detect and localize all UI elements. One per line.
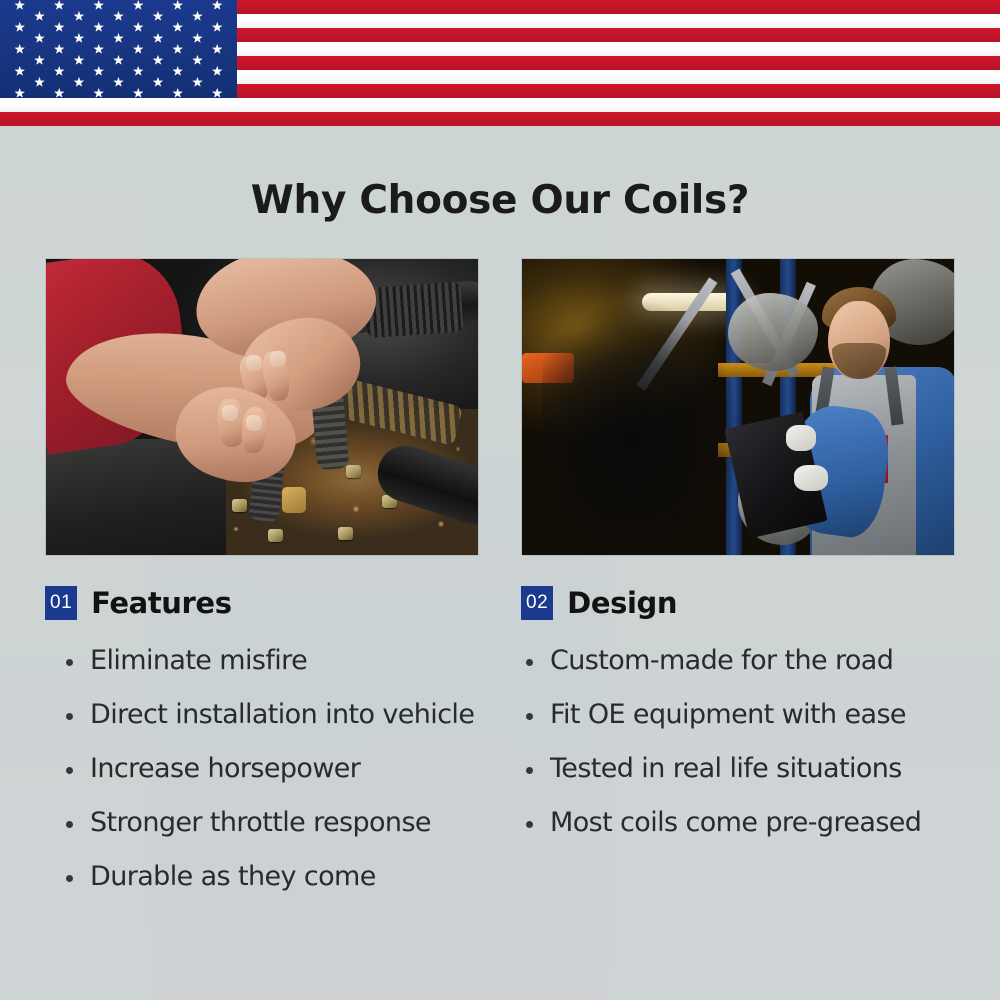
flag-star-icon: ★ [53, 0, 66, 12]
flag-star-icon: ★ [171, 0, 184, 12]
bullet-dot-icon [66, 821, 73, 828]
column-heading-features: 01 Features [45, 586, 232, 620]
list-item: Tested in real life situations [522, 748, 921, 802]
flag-star-icon: ★ [33, 53, 46, 66]
flag-star-icon: ★ [132, 21, 145, 34]
flag-star-icon: ★ [92, 0, 105, 12]
flag-star-icon: ★ [112, 75, 125, 88]
product-infographic-page: ★★★★★★★★★★★★★★★★★★★★★★★★★★★★★★★★★★★★★★★★… [0, 0, 1000, 1000]
flag-canton-stars: ★★★★★★★★★★★★★★★★★★★★★★★★★★★★★★★★★★★★★★★★… [0, 0, 237, 98]
list-item-label: Tested in real life situations [550, 753, 902, 784]
flag-star-icon: ★ [191, 10, 204, 23]
engine-ribbed-hose [364, 282, 463, 339]
flag-star-icon: ★ [92, 43, 105, 56]
worker-glove [786, 425, 816, 451]
flag-star-icon: ★ [53, 43, 66, 56]
flag-star-icon: ★ [152, 32, 165, 45]
flag-star-icon: ★ [13, 64, 26, 77]
bullet-dot-icon [66, 713, 73, 720]
flag-star-icon: ★ [152, 10, 165, 23]
engine-bolt [346, 465, 361, 478]
flag-star-icon: ★ [132, 43, 145, 56]
flag-star-icon: ★ [211, 0, 224, 12]
photo-warehouse-worker [521, 258, 955, 556]
flag-star-icon: ★ [132, 0, 145, 12]
list-item-label: Most coils come pre-greased [550, 807, 921, 838]
flag-star-icon: ★ [73, 32, 86, 45]
bullet-dot-icon [526, 821, 533, 828]
flag-star-icon: ★ [73, 75, 86, 88]
flag-star-icon: ★ [53, 86, 66, 98]
flag-star-icon: ★ [152, 53, 165, 66]
bullet-dot-icon [66, 767, 73, 774]
list-item: Stronger throttle response [62, 802, 474, 856]
flag-star-icon: ★ [112, 32, 125, 45]
flag-star-icon: ★ [112, 10, 125, 23]
bullet-dot-icon [526, 767, 533, 774]
list-item: Eliminate misfire [62, 640, 474, 694]
engine-bolt [232, 499, 247, 512]
flag-star-icon: ★ [171, 64, 184, 77]
list-item: Durable as they come [62, 856, 474, 910]
flag-star-icon: ★ [73, 53, 86, 66]
flag-star-icon: ★ [13, 86, 26, 98]
column-heading-design: 02 Design [521, 586, 677, 620]
flag-star-icon: ★ [112, 53, 125, 66]
list-item-label: Custom-made for the road [550, 645, 893, 676]
flag-star-icon: ★ [33, 32, 46, 45]
list-item-label: Durable as they come [90, 861, 376, 892]
list-item-label: Fit OE equipment with ease [550, 699, 906, 730]
flag-star-icon: ★ [53, 64, 66, 77]
flag-star-icon: ★ [171, 43, 184, 56]
flag-star-icon: ★ [92, 64, 105, 77]
flag-star-icon: ★ [92, 21, 105, 34]
step-number-badge-01: 01 [45, 586, 77, 620]
ignition-coil-brass-tip [282, 487, 306, 513]
flag-star-icon: ★ [152, 75, 165, 88]
flag-star-icon: ★ [211, 21, 224, 34]
flag-star-icon: ★ [211, 43, 224, 56]
flag-star-icon: ★ [33, 10, 46, 23]
bullet-dot-icon [66, 659, 73, 666]
page-title: Why Choose Our Coils? [0, 178, 1000, 223]
flag-star-icon: ★ [13, 21, 26, 34]
fingernail [246, 355, 262, 371]
fingernail [246, 415, 262, 431]
flag-star-icon: ★ [13, 43, 26, 56]
list-item-label: Direct installation into vehicle [90, 699, 474, 730]
flag-star-icon: ★ [33, 75, 46, 88]
column-title-features: Features [91, 586, 231, 620]
flag-star-icon: ★ [171, 86, 184, 98]
column-title-design: Design [567, 586, 677, 620]
flag-star-icon: ★ [132, 64, 145, 77]
usa-flag-banner: ★★★★★★★★★★★★★★★★★★★★★★★★★★★★★★★★★★★★★★★★… [0, 0, 1000, 126]
step-number-badge-02: 02 [521, 586, 553, 620]
fingernail [222, 405, 238, 421]
flag-star-icon: ★ [73, 10, 86, 23]
fingernail [270, 351, 286, 367]
list-item: Custom-made for the road [522, 640, 921, 694]
flag-star-icon: ★ [191, 53, 204, 66]
list-item-label: Eliminate misfire [90, 645, 307, 676]
list-item: Most coils come pre-greased [522, 802, 921, 856]
warehouse-foreground-shadow [542, 299, 752, 556]
list-item-label: Increase horsepower [90, 753, 360, 784]
list-item-label: Stronger throttle response [90, 807, 431, 838]
flag-stripe-red-5 [0, 112, 1000, 126]
design-bullet-list: Custom-made for the road Fit OE equipmen… [522, 640, 921, 856]
list-item: Direct installation into vehicle [62, 694, 474, 748]
flag-star-icon: ★ [211, 86, 224, 98]
flag-star-icon: ★ [171, 21, 184, 34]
bullet-dot-icon [526, 659, 533, 666]
worker-glove [794, 465, 828, 491]
bullet-dot-icon [66, 875, 73, 882]
features-bullet-list: Eliminate misfire Direct installation in… [62, 640, 474, 910]
flag-star-icon: ★ [191, 32, 204, 45]
flag-star-icon: ★ [132, 86, 145, 98]
flag-star-icon: ★ [211, 64, 224, 77]
flag-star-icon: ★ [191, 75, 204, 88]
flag-star-icon: ★ [13, 0, 26, 12]
engine-bolt [268, 529, 283, 542]
flag-stripe-white-4 [0, 98, 1000, 112]
engine-bolt [338, 527, 353, 540]
list-item: Fit OE equipment with ease [522, 694, 921, 748]
flag-star-icon: ★ [92, 86, 105, 98]
photo-mechanic-installing-coil [45, 258, 479, 556]
list-item: Increase horsepower [62, 748, 474, 802]
flag-star-icon: ★ [53, 21, 66, 34]
bullet-dot-icon [526, 713, 533, 720]
